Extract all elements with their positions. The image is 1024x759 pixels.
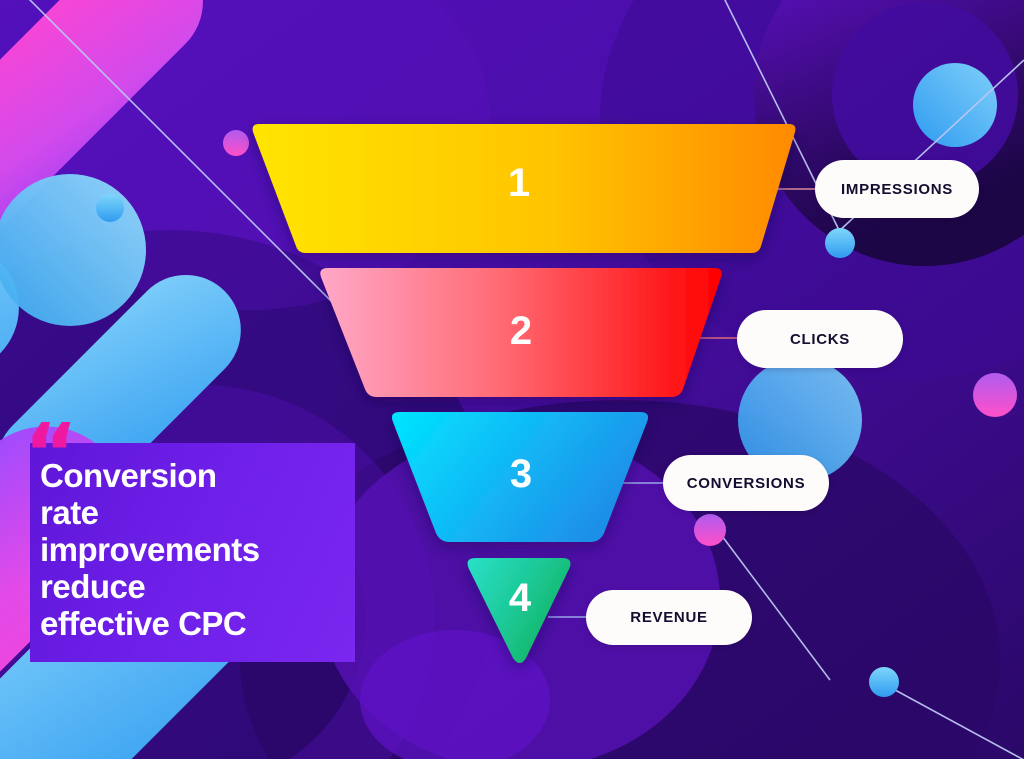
funnel-label-impressions-text: IMPRESSIONS	[841, 181, 953, 198]
funnel-stage-2-number: 2	[491, 311, 551, 351]
funnel-label-revenue[interactable]: REVENUE	[586, 590, 752, 645]
quote-line-3: improvements	[40, 532, 360, 569]
funnel-label-conversions-text: CONVERSIONS	[687, 475, 806, 492]
quote-line-4: reduce	[40, 569, 360, 606]
funnel-label-revenue-text: REVENUE	[630, 609, 707, 626]
funnel-label-conversions[interactable]: CONVERSIONS	[663, 455, 829, 511]
funnel-stage-4-number: 4	[490, 578, 550, 618]
quote-line-2: rate	[40, 495, 360, 532]
quote-text: Conversion rate improvements reduce effe…	[40, 458, 360, 643]
funnel-label-clicks-text: CLICKS	[790, 331, 850, 348]
infographic-canvas: 1 2 3 4 IMPRESSIONS CLICKS CONVERSIONS R…	[0, 0, 1024, 759]
quote-line-5: effective CPC	[40, 606, 360, 643]
quote-line-1: Conversion	[40, 458, 360, 495]
funnel-stage-1-number: 1	[489, 163, 549, 203]
funnel-label-impressions[interactable]: IMPRESSIONS	[815, 160, 979, 218]
funnel-label-clicks[interactable]: CLICKS	[737, 310, 903, 368]
funnel-stage-3-number: 3	[491, 454, 551, 494]
